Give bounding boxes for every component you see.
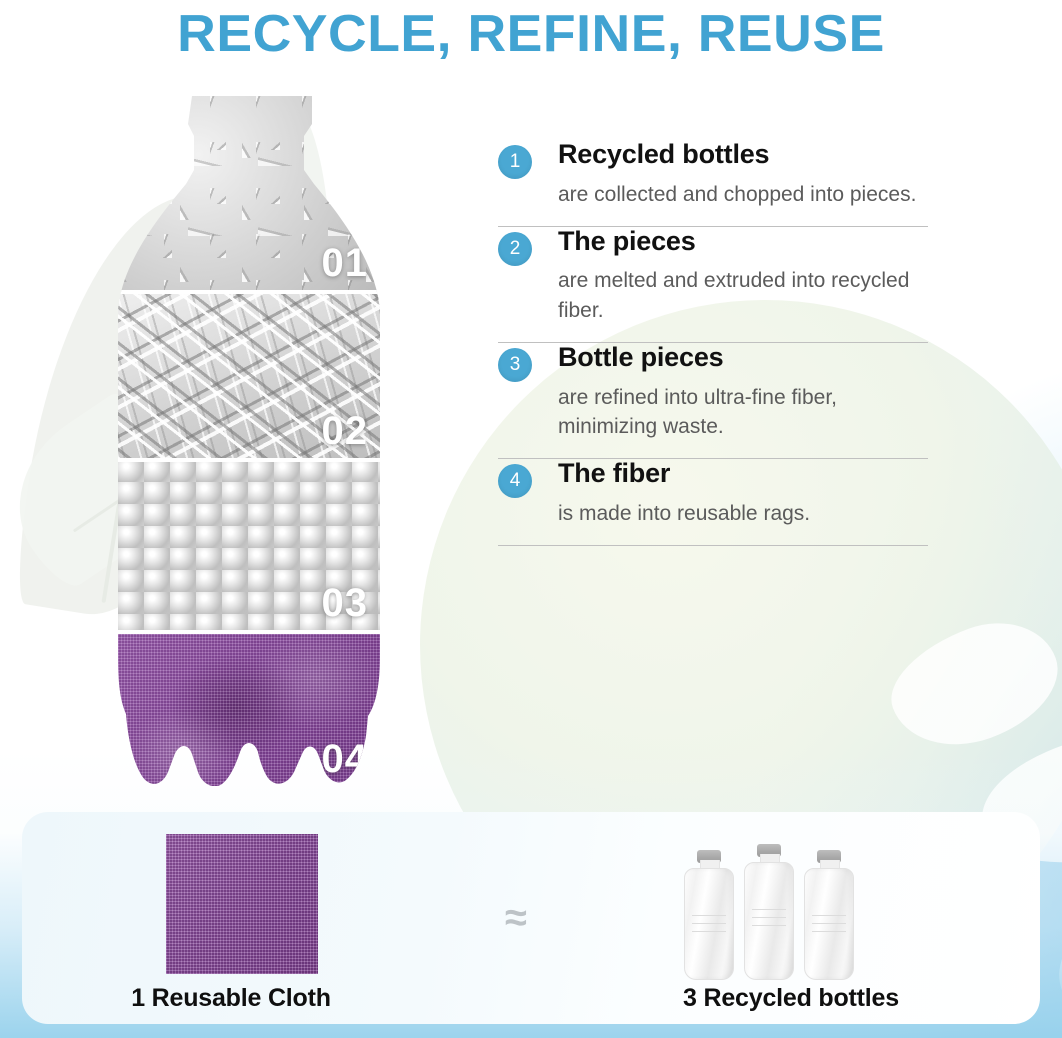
plastic-bottle-icon [684,850,734,980]
plastic-bottle-icon [804,850,854,980]
bottle-segment-01: 01 [118,96,386,292]
equivalence-right-side: 3 Recycled bottles [542,812,1040,1024]
plastic-bottle-icon [744,844,794,980]
recycled-bottles-illustration [670,832,910,980]
segment-number-label: 04 [322,737,369,782]
process-step-list: 1 Recycled bottles are collected and cho… [498,140,928,546]
process-step-2: 2 The pieces are melted and extruded int… [498,227,928,343]
step-number-badge: 3 [498,348,532,382]
bottle-body [744,862,794,980]
bottle-ridge-line [692,915,726,916]
step-title: Bottle pieces [558,343,928,373]
bottle-ridge-line [692,931,726,932]
bottle-ridge-line [752,917,786,918]
bottle-segment-03: 03 [118,460,386,632]
bottle-ridge-line [812,931,846,932]
step-title: The pieces [558,227,928,257]
process-step-3: 3 Bottle pieces are refined into ultra-f… [498,343,928,459]
segment-divider [118,458,386,462]
step-number-badge: 1 [498,145,532,179]
pet-bottle-diagram: 01 02 03 04 [118,96,386,786]
page-title: RECYCLE, REFINE, REUSE [0,4,1062,64]
bottle-ridge-line [692,923,726,924]
step-title: The fiber [558,459,928,489]
bottle-segment-02: 02 [118,292,386,460]
bottle-ridge-line [752,909,786,910]
segment-number-label: 02 [322,409,369,454]
bottles-caption: 3 Recycled bottles [542,984,1040,1013]
segment-divider [118,630,386,634]
equivalence-panel: 1 Reusable Cloth ≈ [22,812,1040,1024]
step-number-badge: 2 [498,232,532,266]
step-title: Recycled bottles [558,140,928,170]
globe-continent-shape [876,604,1062,766]
cloth-caption: 1 Reusable Cloth [0,984,466,1013]
bottle-body [684,868,734,980]
bottle-body [804,868,854,980]
process-step-4: 4 The fiber is made into reusable rags. [498,459,928,546]
bottle-ridge-line [752,925,786,926]
segment-number-label: 01 [322,241,369,286]
step-description: are collected and chopped into pieces. [558,180,928,226]
step-description: is made into reusable rags. [558,499,928,545]
equivalence-left-side: 1 Reusable Cloth [22,812,492,1024]
bottle-segment-04: 04 [118,632,386,786]
infographic-page: RECYCLE, REFINE, REUSE 01 02 03 04 1 Rec… [0,0,1062,1038]
segment-divider [118,290,386,294]
approximately-equal-icon: ≈ [496,898,536,938]
bottle-ridge-line [812,923,846,924]
purple-cloth-swatch [166,834,318,974]
bottle-ridge-line [812,915,846,916]
segment-number-label: 03 [322,581,369,626]
step-description: are melted and extruded into recycled fi… [558,266,928,342]
bottle-silhouette-mask: 01 02 03 04 [118,96,386,786]
globe-continent-shape [1051,883,1062,1038]
process-step-1: 1 Recycled bottles are collected and cho… [498,140,928,227]
step-description: are refined into ultra-fine fiber, minim… [558,383,928,459]
step-number-badge: 4 [498,464,532,498]
